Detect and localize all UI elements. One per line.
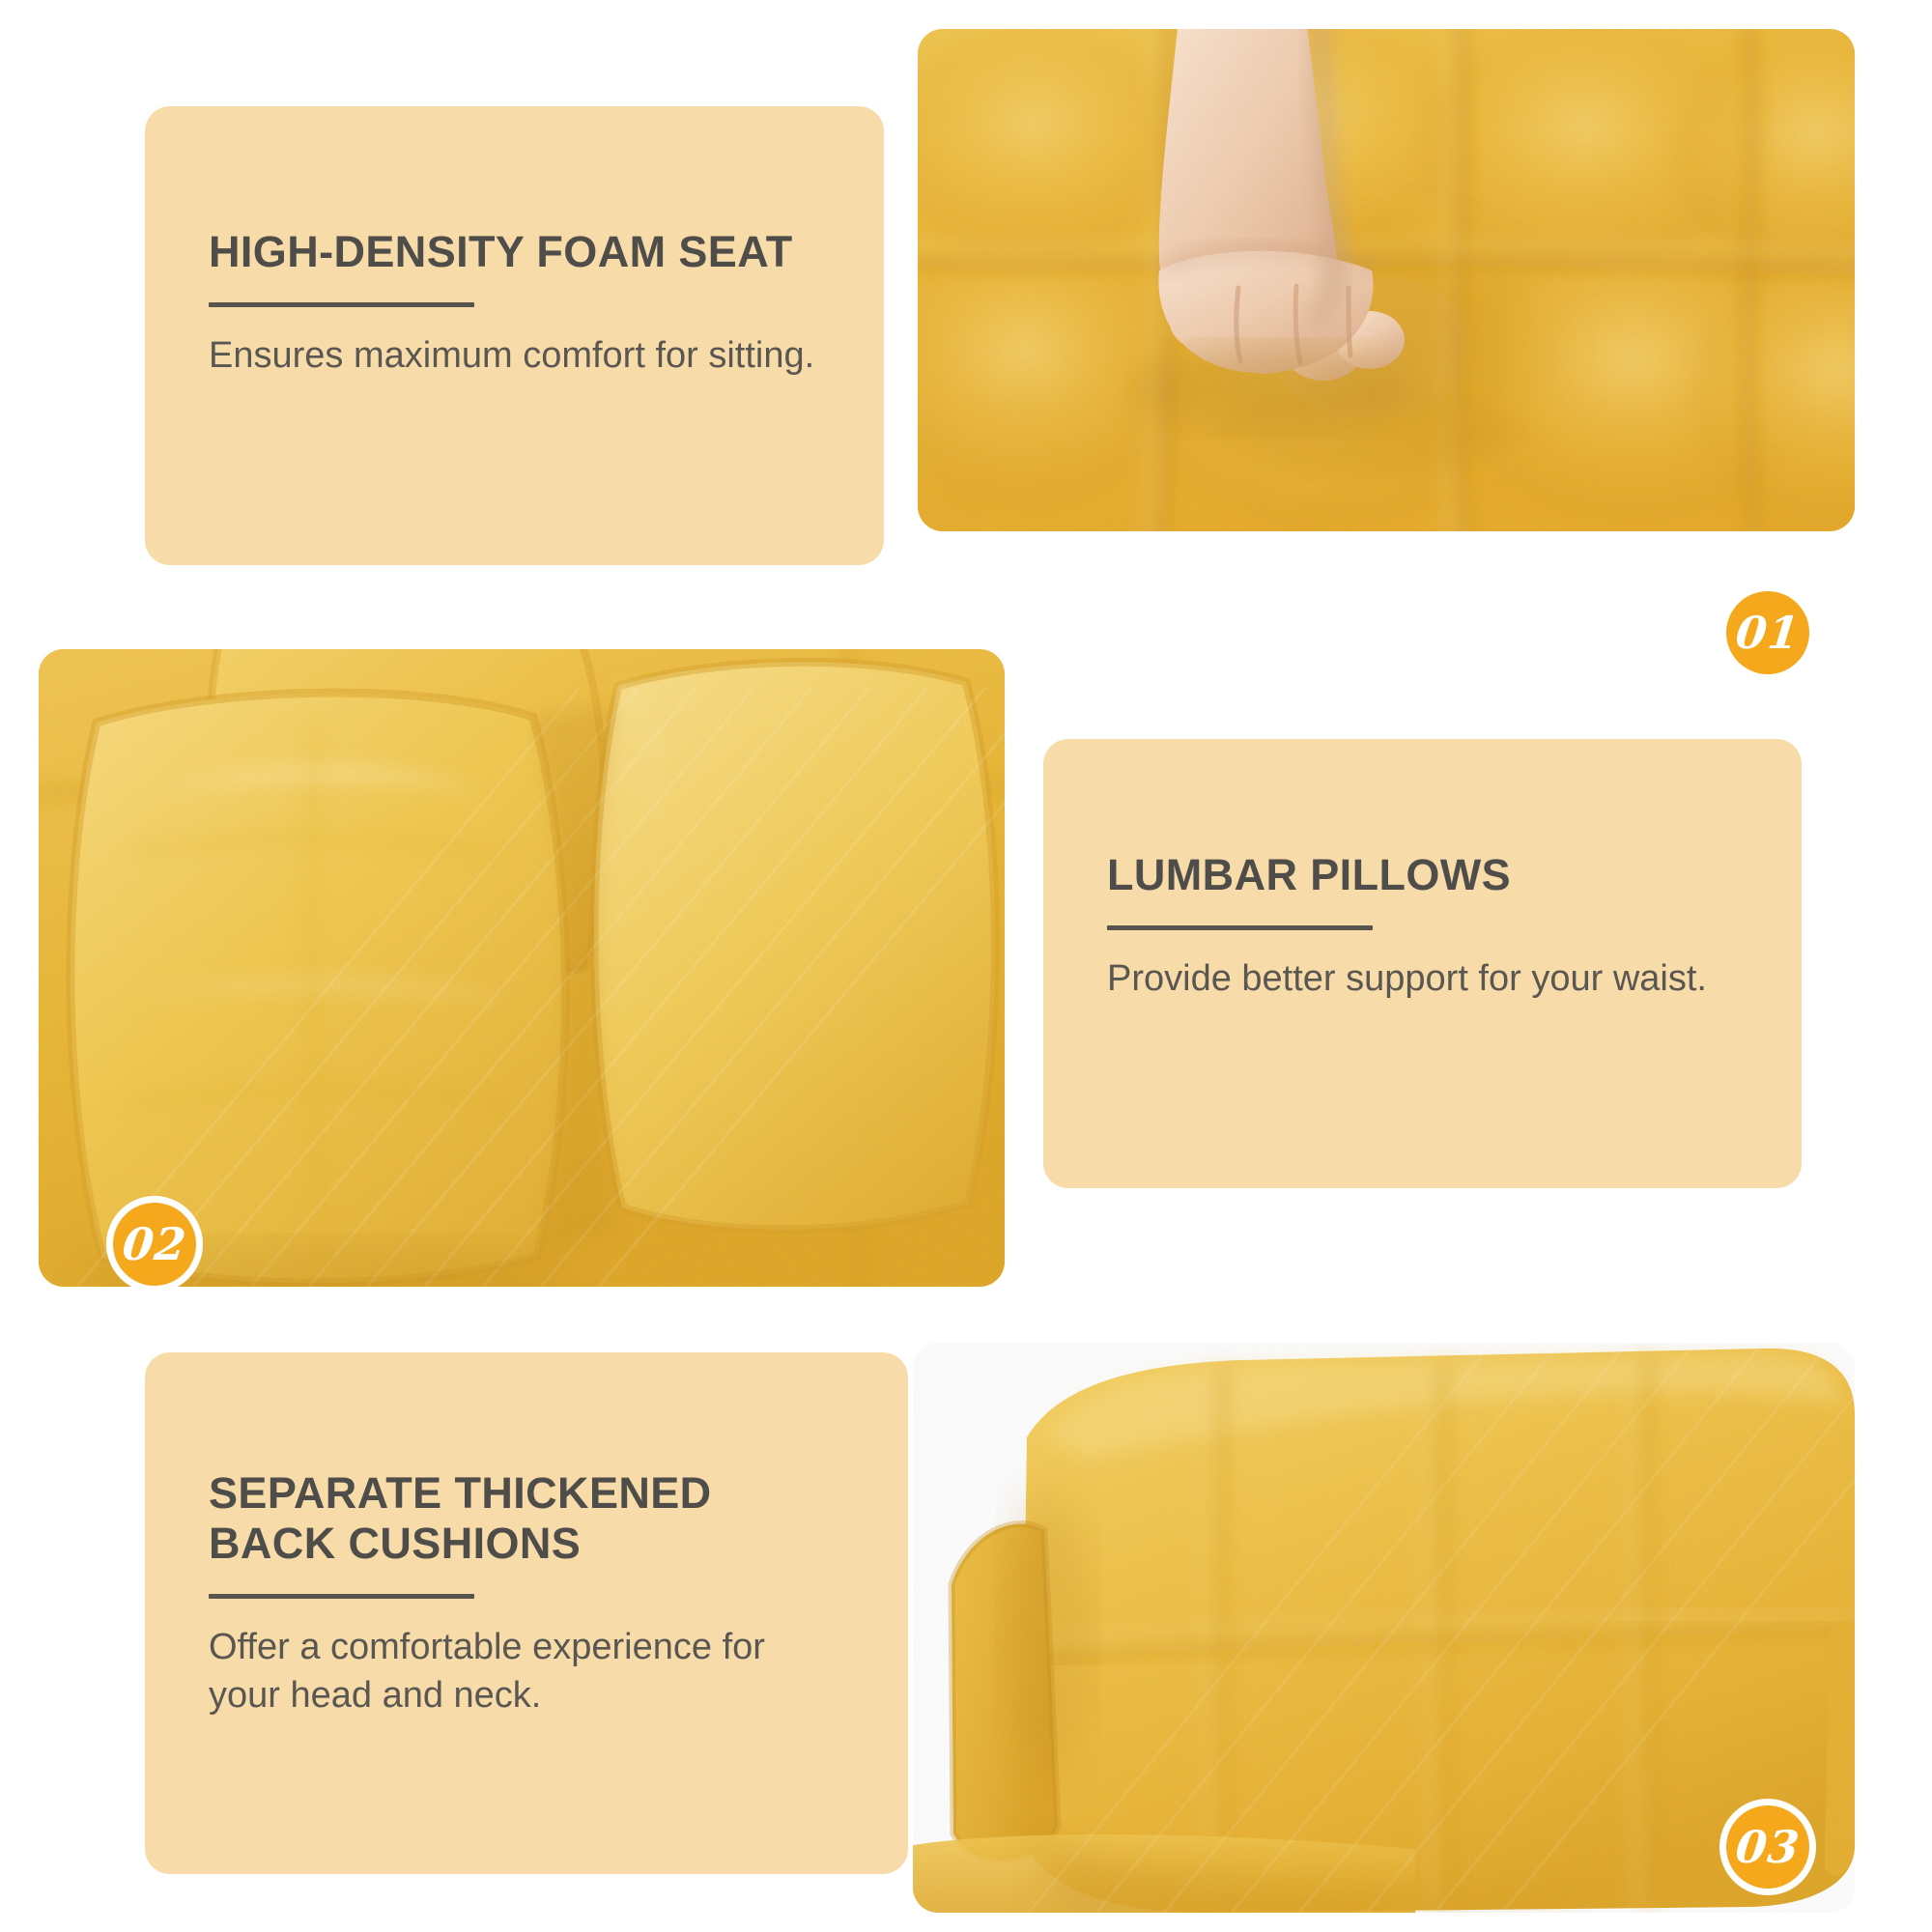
feature-card-3-divider	[209, 1594, 474, 1599]
feature-card-1: HIGH-DENSITY FOAM SEAT Ensures maximum c…	[145, 106, 884, 565]
feature-card-2-divider	[1107, 925, 1373, 930]
feature-card-1-description: Ensures maximum comfort for sitting.	[209, 332, 845, 380]
feature-card-3: SEPARATE THICKENED BACK CUSHIONS Offer a…	[145, 1352, 908, 1874]
feature-badge-2: 02	[106, 1196, 203, 1293]
back-cushion-illustration	[913, 1343, 1855, 1913]
feature-badge-3-label: 03	[1734, 1825, 1803, 1869]
feature-badge-1-label: 01	[1734, 611, 1803, 655]
feature-photo-2	[39, 649, 1005, 1287]
feature-card-2-title: LUMBAR PILLOWS	[1107, 850, 1763, 900]
feature-card-1-divider	[209, 302, 474, 307]
infographic-canvas: 01 HIGH-DENSITY FOAM SEAT Ensures maximu…	[0, 0, 1932, 1932]
feature-badge-3: 03	[1719, 1799, 1816, 1895]
seat-cushion-illustration	[918, 29, 1855, 531]
feature-card-2: LUMBAR PILLOWS Provide better support fo…	[1043, 739, 1802, 1188]
feature-card-3-title: SEPARATE THICKENED BACK CUSHIONS	[209, 1468, 798, 1569]
feature-card-2-description: Provide better support for your waist.	[1107, 955, 1763, 1003]
feature-badge-1: 01	[1719, 584, 1816, 681]
feature-badge-2-label: 02	[121, 1222, 189, 1266]
feature-card-1-title: HIGH-DENSITY FOAM SEAT	[209, 227, 845, 277]
feature-card-3-description: Offer a comfortable experience for your …	[209, 1624, 846, 1719]
lumbar-pillows-illustration	[39, 649, 1005, 1287]
feature-photo-3	[913, 1343, 1855, 1913]
feature-photo-1	[918, 29, 1855, 531]
